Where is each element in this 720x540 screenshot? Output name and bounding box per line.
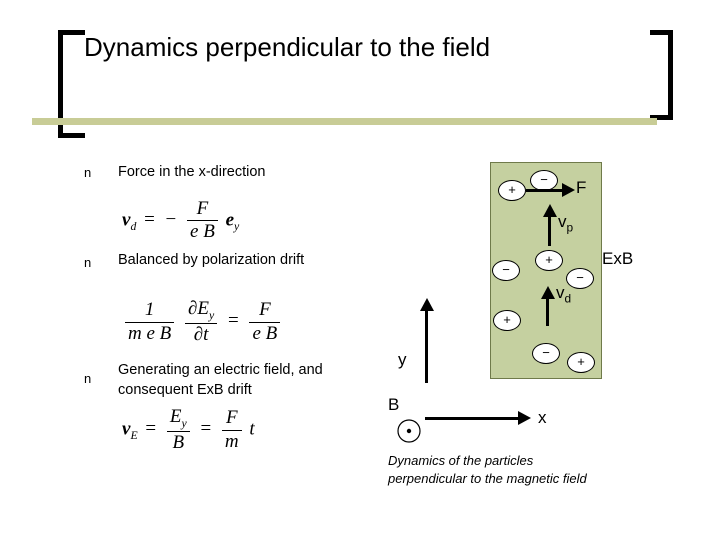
magnetic-field-out-of-page-icon — [396, 418, 422, 444]
label-exb: ExB — [602, 249, 633, 269]
equation-2-coefficient-numerator: 1 — [125, 299, 174, 322]
equation-3-fraction-2-numerator: F — [222, 407, 242, 430]
y-axis-arrow-head — [418, 298, 436, 312]
force-arrow-shaft — [526, 189, 564, 192]
bullet-text-3: Generating an electric field, and conseq… — [118, 361, 368, 400]
page-title: Dynamics perpendicular to the field — [84, 32, 604, 63]
equation-3-tail: t — [249, 418, 254, 439]
label-vd-sub: d — [565, 291, 572, 305]
diagram-caption: Dynamics of the particles perpendicular … — [388, 452, 708, 487]
bullet-marker-3: n — [84, 371, 91, 386]
label-vp: vp — [558, 212, 573, 234]
equation-3-fraction-1-denominator: B — [167, 432, 190, 454]
equation-1-fraction: F e B — [187, 198, 218, 244]
equation-3-fraction-1-numerator: Ey — [167, 406, 190, 432]
equation-3-lhs-sub: E — [130, 429, 137, 442]
equation-1-lhs-sub: d — [130, 220, 136, 233]
vd-arrow-head — [539, 286, 557, 300]
equation-3: vE = Ey B = F m t — [122, 406, 255, 454]
equation-3-equals-2: = — [197, 418, 214, 439]
label-vp-sub: p — [567, 220, 574, 234]
equation-2-derivative: ∂Ey ∂t — [185, 298, 217, 346]
equation-2-rhs-fraction: F e B — [249, 299, 280, 345]
diagram-caption-line-2: perpendicular to the magnetic field — [388, 470, 708, 488]
label-force: F — [576, 178, 586, 198]
equation-3-fraction-2: F m — [222, 407, 242, 453]
title-underline-rule — [32, 118, 657, 125]
charge-positive-4: + — [567, 352, 595, 373]
equation-2-rhs-numerator: F — [249, 299, 280, 322]
equation-2-coefficient: 1 m e B — [125, 299, 174, 345]
x-axis-arrow-head — [518, 409, 532, 427]
vp-arrow-head — [541, 204, 559, 218]
title-bracket-right — [650, 30, 673, 120]
equation-1-minus: − — [163, 209, 180, 230]
y-axis-shaft — [425, 310, 428, 383]
bullet-marker-1: n — [84, 165, 91, 180]
equation-3-fraction-1-numerator-sub: y — [181, 417, 186, 430]
equation-3-fraction-1: Ey B — [167, 406, 190, 454]
label-axis-x: x — [538, 408, 547, 428]
bullet-marker-2: n — [84, 255, 91, 270]
equation-2-derivative-denominator: ∂t — [185, 324, 217, 346]
bullet-text-1: Force in the x-direction — [118, 163, 358, 183]
label-axis-y: y — [398, 350, 407, 370]
equation-1: vd = − F e B ey — [122, 198, 239, 244]
equation-1-equals: = — [141, 209, 158, 230]
vp-arrow-shaft — [548, 216, 551, 246]
label-field-b: B — [388, 395, 399, 415]
equation-2-derivative-numerator: ∂Ey — [185, 298, 217, 324]
vd-arrow-shaft — [546, 298, 549, 326]
charge-positive-2: + — [535, 250, 563, 271]
diagram-caption-line-1: Dynamics of the particles — [388, 452, 708, 470]
equation-1-rhs-sub: y — [234, 220, 239, 233]
equation-2-equals: = — [225, 310, 242, 331]
equation-1-fraction-denominator: e B — [187, 221, 218, 243]
equation-3-equals-1: = — [142, 418, 159, 439]
force-arrow-head — [562, 181, 576, 199]
label-vd: vd — [556, 283, 571, 305]
equation-1-fraction-numerator: F — [187, 198, 218, 221]
equation-2-derivative-numerator-sub: y — [209, 309, 214, 322]
charge-positive-1: + — [498, 180, 526, 201]
equation-2: 1 m e B ∂Ey ∂t = F e B — [122, 298, 283, 346]
equation-3-fraction-2-denominator: m — [222, 431, 242, 453]
equation-1-rhs: e — [226, 209, 234, 230]
x-axis-shaft — [425, 417, 520, 420]
charge-negative-1: − — [530, 170, 558, 191]
equation-2-rhs-denominator: e B — [249, 323, 280, 345]
charge-negative-2: − — [492, 260, 520, 281]
charge-negative-4: − — [532, 343, 560, 364]
charge-positive-3: + — [493, 310, 521, 331]
equation-2-coefficient-denominator: m e B — [125, 323, 174, 345]
bullet-text-2: Balanced by polarization drift — [118, 251, 348, 271]
